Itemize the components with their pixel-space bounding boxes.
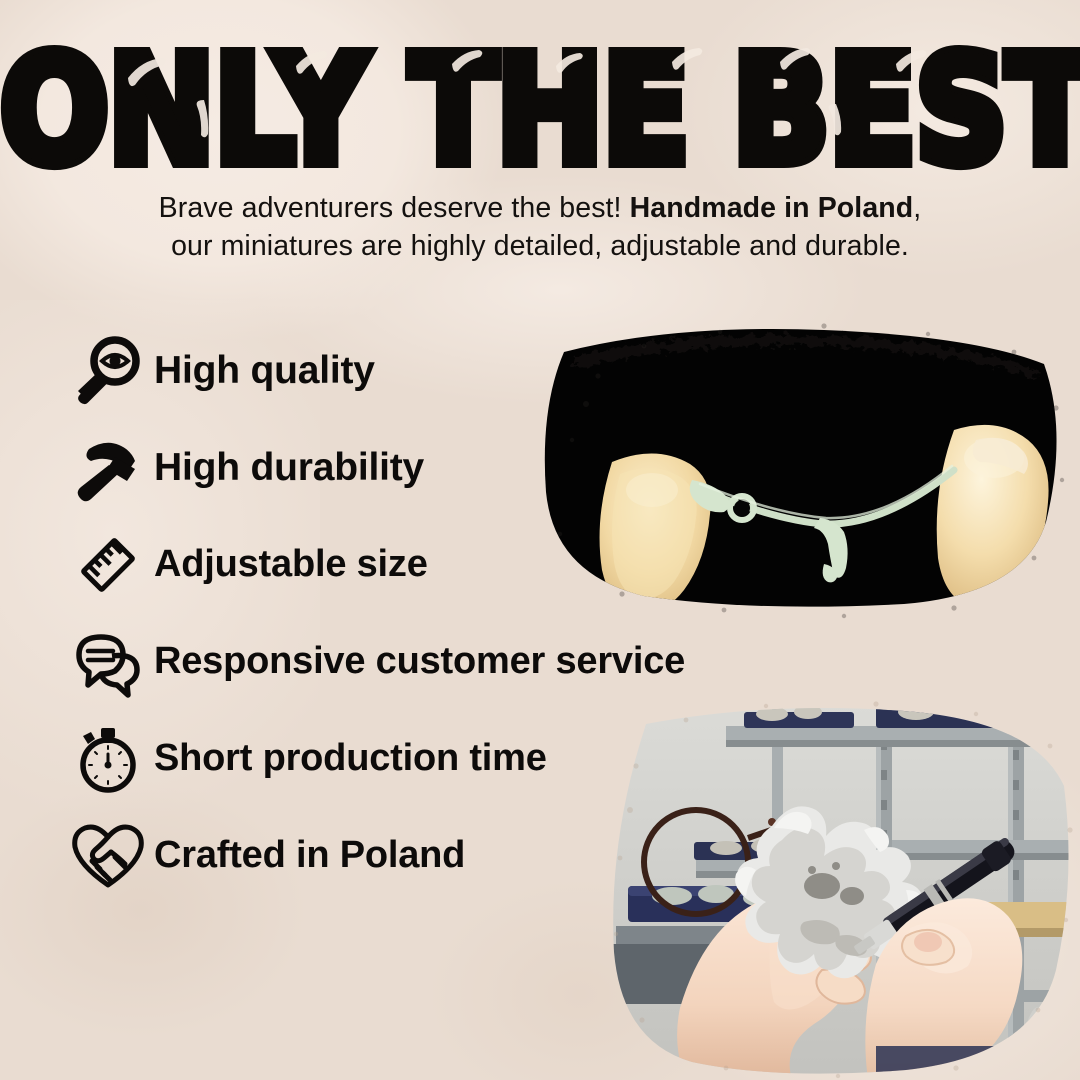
magnifier-eye-icon [62, 334, 154, 408]
subtitle-line1-plain: Brave adventurers deserve the best! [159, 192, 622, 224]
feature-row: Adjustable size [62, 516, 782, 613]
subtitle: Brave adventurers deserve the best! Hand… [90, 190, 990, 265]
headline: ONLY THE BEST [0, 34, 1080, 188]
feature-label: High durability [154, 446, 424, 490]
hammer-icon [62, 431, 154, 505]
promo-graphic: ONLY THE BEST Brave adventurers deserve … [0, 0, 1080, 1080]
subtitle-line2: our miniatures are highly detailed, adju… [171, 230, 909, 262]
handshake-heart-icon [62, 819, 154, 893]
feature-label: High quality [154, 349, 375, 393]
feature-label: Crafted in Poland [154, 834, 465, 877]
feature-row: Crafted in Poland [62, 807, 782, 904]
feature-row: Responsive customer service [62, 613, 782, 710]
feature-row: High durability [62, 419, 782, 516]
subtitle-line1-bold: Handmade in Poland [630, 192, 914, 224]
feature-label: Responsive customer service [154, 640, 685, 683]
speech-bubbles-icon [62, 625, 154, 699]
feature-list: High quality High durability [62, 322, 782, 904]
feature-label: Short production time [154, 737, 547, 780]
ruler-icon [62, 528, 154, 602]
feature-row: High quality [62, 322, 782, 419]
stopwatch-icon [62, 722, 154, 796]
subtitle-line1-tail: , [913, 192, 921, 224]
feature-row: Short production time [62, 710, 782, 807]
feature-label: Adjustable size [154, 543, 428, 586]
